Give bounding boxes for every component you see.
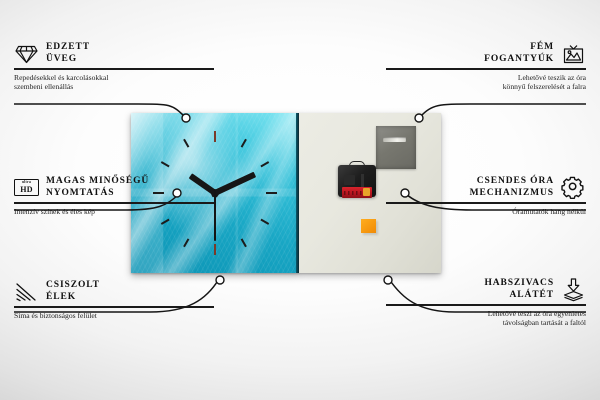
polished-edges-icon xyxy=(14,280,39,303)
callout-rule xyxy=(386,202,586,204)
ultra-hd-icon: ultra HD xyxy=(14,176,39,199)
connector-metal-handles xyxy=(420,104,586,117)
callout-high-quality-print: ultra HD MAGAS MINŐSÉGŰ NYOMTATÁS Intenz… xyxy=(14,176,214,216)
battery-label xyxy=(344,191,364,195)
mechanism-body xyxy=(338,165,376,197)
callout-title: FÉM FOGANTYÚK xyxy=(484,42,554,65)
callout-title: CSENDES ÓRA MECHANIZMUS xyxy=(470,176,554,199)
callout-rule xyxy=(14,202,214,204)
ultra-hd-icon-main-label: HD xyxy=(20,186,32,194)
connector-dot-polished-edges xyxy=(216,276,224,284)
gear-icon xyxy=(561,176,586,199)
callout-subtitle: Intenzív színek és éles kép xyxy=(14,207,214,217)
callout-header: HABSZIVACS ALÁTÉT xyxy=(386,278,586,301)
callout-subtitle: Lehetővé teszi az óra egyenletes távolsá… xyxy=(386,309,586,328)
callout-header: CSISZOLT ÉLEK xyxy=(14,280,214,303)
callout-title: MAGAS MINŐSÉGŰ NYOMTATÁS xyxy=(46,176,149,199)
callout-header: CSENDES ÓRA MECHANIZMUS xyxy=(386,176,586,199)
callout-header: FÉM FOGANTYÚK xyxy=(386,42,586,65)
infographic-canvas: EDZETT ÜVEG Repedésekkel és karcolásokka… xyxy=(0,0,600,400)
callout-header: ultra HD MAGAS MINŐSÉGŰ NYOMTATÁS xyxy=(14,176,214,199)
callout-title: HABSZIVACS ALÁTÉT xyxy=(484,278,554,301)
callout-title: EDZETT ÜVEG xyxy=(46,42,90,65)
clock-mechanism xyxy=(338,161,376,197)
metal-hanger-plate xyxy=(376,126,416,169)
hanger-slot xyxy=(383,137,406,142)
foam-pad-sample xyxy=(361,219,376,233)
callout-rule xyxy=(14,68,214,70)
foam-pad-icon xyxy=(561,278,586,301)
callout-tempered-glass: EDZETT ÜVEG Repedésekkel és karcolásokka… xyxy=(14,42,214,92)
callout-subtitle: Lehetővé teszik az óra könnyű felszerelé… xyxy=(386,73,586,92)
callout-foam-pad: HABSZIVACS ALÁTÉT Lehetővé teszi az óra … xyxy=(386,278,586,328)
mechanism-slot-right xyxy=(361,174,364,187)
callout-subtitle: Óramutatók hang nélkül xyxy=(386,207,586,217)
battery-plus-terminal xyxy=(363,188,370,196)
callout-metal-handles: FÉM FOGANTYÚK Lehetővé teszik az óra kön… xyxy=(386,42,586,92)
callout-title: CSISZOLT ÉLEK xyxy=(46,280,100,303)
callout-subtitle: Sima és biztonságos felület xyxy=(14,311,214,321)
callout-polished-edges: CSISZOLT ÉLEK Sima és biztonságos felüle… xyxy=(14,280,214,320)
battery xyxy=(342,187,372,198)
mechanism-slot-left xyxy=(344,175,355,185)
diamond-icon xyxy=(14,42,39,65)
callout-subtitle: Repedésekkel és karcolásokkal szembeni e… xyxy=(14,73,214,92)
callout-rule xyxy=(14,306,214,308)
callout-rule xyxy=(386,68,586,70)
callout-silent-mechanism: CSENDES ÓRA MECHANIZMUS Óramutatók hang … xyxy=(386,176,586,216)
picture-hanger-icon xyxy=(561,42,586,65)
callout-header: EDZETT ÜVEG xyxy=(14,42,214,65)
callout-rule xyxy=(386,304,586,306)
